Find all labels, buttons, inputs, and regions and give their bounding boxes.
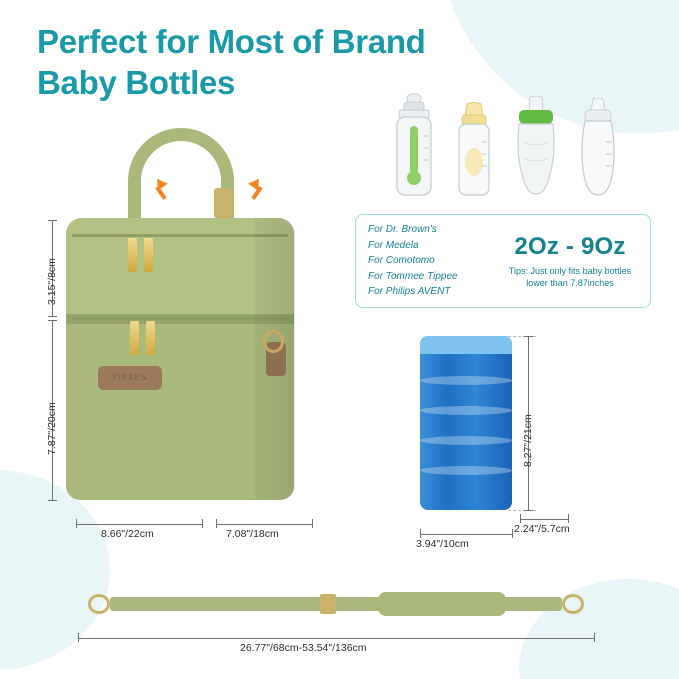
- dr-browns-bottle-icon: [386, 92, 442, 198]
- compatibility-capacity-card: For Dr. Brown's For Medela For Comotomo …: [355, 214, 651, 308]
- ice-height-label: 8.27"/21cm: [522, 414, 534, 467]
- tips-line-1: Tips: Just only fits baby bottles: [496, 265, 644, 277]
- top-zipper-pull-1: [128, 238, 137, 272]
- bag-width-tick-left: [76, 519, 77, 528]
- bag-width-line: [76, 524, 202, 525]
- ice-width-tick-right: [512, 529, 513, 538]
- strap-length-tick-right: [594, 633, 595, 642]
- bag-top-height-tick-top: [48, 220, 57, 221]
- mid-zipper-pull-1: [130, 321, 139, 355]
- strap-length-line: [78, 638, 594, 639]
- handle-buckle: [214, 188, 233, 218]
- shoulder-strap-illustration: [88, 592, 584, 616]
- compatible-bottles-illustration: [386, 92, 626, 198]
- compat-item-4: For Philips AVENT: [368, 284, 496, 300]
- side-d-ring-icon: [263, 330, 284, 353]
- bag-body-height-label: 7.87"/20cm: [46, 402, 58, 455]
- medela-bottle-icon: [446, 102, 502, 198]
- bag-width-tick-right: [202, 519, 203, 528]
- strap-hook-right-icon: [562, 594, 584, 614]
- bag-depth-tick-left: [216, 519, 217, 528]
- bag-top-height-tick-bottom: [48, 316, 57, 317]
- capacity-tips: Tips: Just only fits baby bottles lower …: [496, 265, 644, 289]
- ice-pack-cap: [420, 336, 512, 354]
- strap-shoulder-pad: [378, 592, 506, 616]
- headline-line-1: Perfect for Most of Brand: [37, 22, 557, 63]
- mid-zipper-pull-2: [146, 321, 155, 355]
- ice-pack-rib-2: [420, 406, 512, 415]
- avent-bottle-icon: [570, 98, 626, 198]
- bag-body-height-tick-top: [48, 320, 57, 321]
- product-infographic: Perfect for Most of Brand Baby Bottles: [0, 0, 679, 679]
- ice-height-tick-bottom: [524, 510, 533, 511]
- ice-height-tick-top: [524, 336, 533, 337]
- ice-pack-rib-3: [420, 436, 512, 445]
- ice-thickness-label: 2.24"/5.7cm: [514, 523, 570, 535]
- ice-pack-illustration: [420, 336, 512, 510]
- strap-hook-left-icon: [88, 594, 110, 614]
- capacity-value: 2Oz - 9Oz: [496, 233, 644, 261]
- compat-item-1: For Medela: [368, 238, 496, 254]
- ice-pack-rib-4: [420, 466, 512, 475]
- compatible-brands-list: For Dr. Brown's For Medela For Comotomo …: [356, 222, 496, 300]
- bag-body-height-tick-bottom: [48, 500, 57, 501]
- bag-width-label: 8.66"/22cm: [101, 528, 154, 540]
- ice-width-line: [420, 534, 512, 535]
- ice-width-label: 3.94"/10cm: [416, 538, 469, 550]
- strap-length-tick-left: [78, 633, 79, 642]
- brand-label-patch: PIKSEN: [98, 366, 162, 390]
- ice-width-tick-left: [420, 529, 421, 538]
- bag-depth-tick-right: [312, 519, 313, 528]
- compat-item-3: For Tommee Tippee: [368, 269, 496, 285]
- bag-depth-label: 7.08"/18cm: [226, 528, 279, 540]
- strap-length-label: 26.77"/68cm-53.54"/136cm: [240, 642, 367, 654]
- cooler-bag-illustration: PIKSEN: [66, 218, 294, 500]
- ice-pack-rib-1: [420, 376, 512, 385]
- tips-line-2: lower than 7.87inches: [496, 277, 644, 289]
- bag-depth-line: [216, 524, 312, 525]
- compat-item-2: For Comotomo: [368, 253, 496, 269]
- capacity-block: 2Oz - 9Oz Tips: Just only fits baby bott…: [496, 233, 650, 289]
- strap-adjuster-buckle: [320, 594, 336, 614]
- top-zipper-pull-2: [144, 238, 153, 272]
- bag-top-height-label: 3.15"/8cm: [46, 258, 58, 305]
- arrow-right-stem: [251, 186, 262, 200]
- ice-thickness-tick-right: [568, 514, 569, 523]
- comotomo-bottle-icon: [506, 96, 566, 198]
- ice-thickness-line: [520, 519, 568, 520]
- compat-item-0: For Dr. Brown's: [368, 222, 496, 238]
- ice-thickness-tick-left: [520, 514, 521, 523]
